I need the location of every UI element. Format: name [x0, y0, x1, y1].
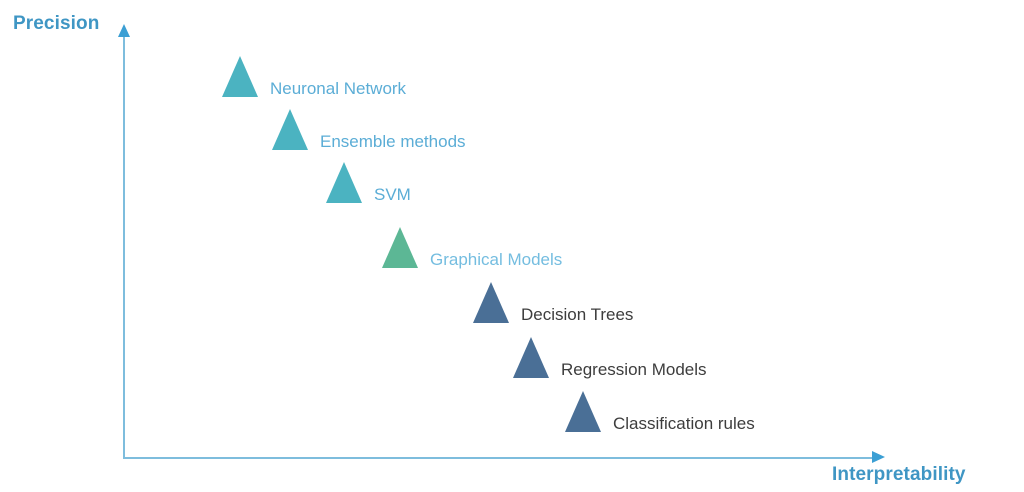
triangle-marker-icon	[513, 337, 549, 378]
y-axis-arrow-icon	[118, 24, 130, 37]
data-point-label: Neuronal Network	[270, 80, 406, 97]
triangle-marker-icon	[382, 227, 418, 268]
triangle-marker-icon	[222, 56, 258, 97]
y-axis-title: Precision	[13, 13, 99, 35]
x-axis-line	[123, 457, 880, 459]
triangle-marker-icon	[272, 109, 308, 150]
triangle-marker-icon	[565, 391, 601, 432]
data-point-label: Ensemble methods	[320, 133, 466, 150]
triangle-marker-icon	[326, 162, 362, 203]
data-point-label: Graphical Models	[430, 251, 562, 268]
y-axis-line	[123, 34, 125, 459]
data-point-label: Regression Models	[561, 361, 707, 378]
x-axis-title: Interpretability	[832, 464, 966, 486]
x-axis-arrow-icon	[872, 451, 885, 463]
data-point-label: SVM	[374, 186, 411, 203]
triangle-marker-icon	[473, 282, 509, 323]
data-point-label: Decision Trees	[521, 306, 633, 323]
diagram-canvas: Precision Interpretability Neuronal Netw…	[0, 0, 1024, 492]
data-point-label: Classification rules	[613, 415, 755, 432]
